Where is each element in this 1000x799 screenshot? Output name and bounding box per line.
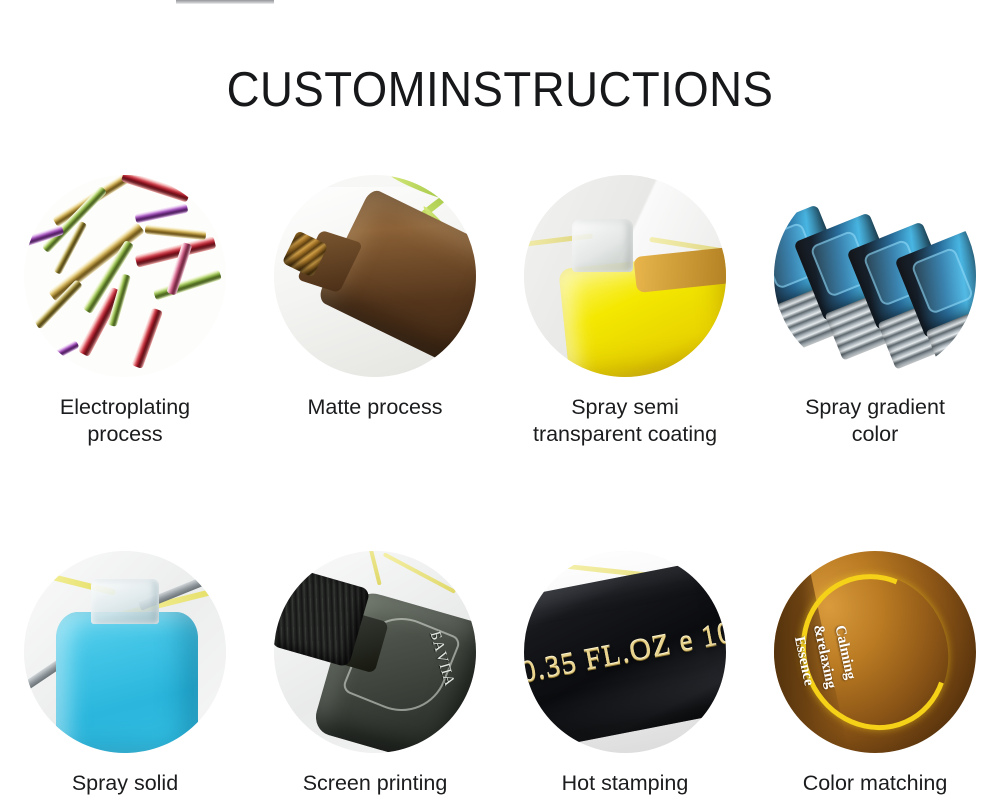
- spray-semi-illustration: [524, 175, 726, 377]
- process-card-spray-semi-transparent[interactable]: Spray semi transparent coating: [500, 175, 750, 448]
- caption-spray-solid: Spray solid color: [3, 770, 247, 799]
- caption-color-matching: Color matching process: [753, 770, 997, 799]
- hot-stamping-illustration: 0.35 FL.OZ e 10: [524, 551, 726, 753]
- thumbnail-spray-semi-transparent[interactable]: [524, 175, 726, 377]
- poster-root: CUSTOMINSTRUCTIONS: [0, 0, 1000, 799]
- thumbnail-spray-gradient[interactable]: [774, 175, 976, 377]
- color-matching-illustration: Calming &relaxing Essence: [774, 551, 976, 753]
- caption-matte: Matte process: [253, 394, 497, 421]
- spray-solid-illustration: [24, 551, 226, 753]
- thumbnail-color-matching[interactable]: Calming &relaxing Essence: [774, 551, 976, 753]
- thumbnail-electroplating[interactable]: [24, 175, 226, 377]
- page-title: CUSTOMINSTRUCTIONS: [35, 60, 965, 120]
- process-card-matte[interactable]: Matte process: [250, 175, 500, 448]
- thumbnail-spray-solid[interactable]: [24, 551, 226, 753]
- matte-illustration: [274, 175, 476, 377]
- electroplating-illustration: [24, 175, 226, 377]
- caption-screen-printing: Screen printing process: [253, 770, 497, 799]
- process-card-spray-gradient[interactable]: Spray gradient color: [750, 175, 1000, 448]
- process-row-2: Spray solid color БАVПА Scr: [0, 551, 1000, 799]
- caption-spray-gradient: Spray gradient color: [753, 394, 997, 448]
- thumbnail-screen-printing[interactable]: БАVПА: [274, 551, 476, 753]
- process-card-spray-solid[interactable]: Spray solid color: [0, 551, 250, 799]
- caption-hot-stamping: Hot stamping process: [503, 770, 747, 799]
- caption-electroplating: Electroplating process: [3, 394, 247, 448]
- process-card-screen-printing[interactable]: БАVПА Screen printing process: [250, 551, 500, 799]
- top-edge-artifact: [176, 0, 274, 4]
- thumbnail-matte[interactable]: [274, 175, 476, 377]
- process-card-electroplating[interactable]: Electroplating process: [0, 175, 250, 448]
- process-card-hot-stamping[interactable]: 0.35 FL.OZ e 10 Hot stamping process: [500, 551, 750, 799]
- spray-gradient-illustration: [774, 175, 976, 377]
- process-card-color-matching[interactable]: Calming &relaxing Essence Color matching…: [750, 551, 1000, 799]
- screen-printing-illustration: БАVПА: [274, 551, 476, 753]
- process-row-1: Electroplating process Matte process: [0, 175, 1000, 448]
- process-grid: Electroplating process Matte process: [0, 175, 1000, 799]
- thumbnail-hot-stamping[interactable]: 0.35 FL.OZ e 10: [524, 551, 726, 753]
- caption-spray-semi-transparent: Spray semi transparent coating: [503, 394, 747, 448]
